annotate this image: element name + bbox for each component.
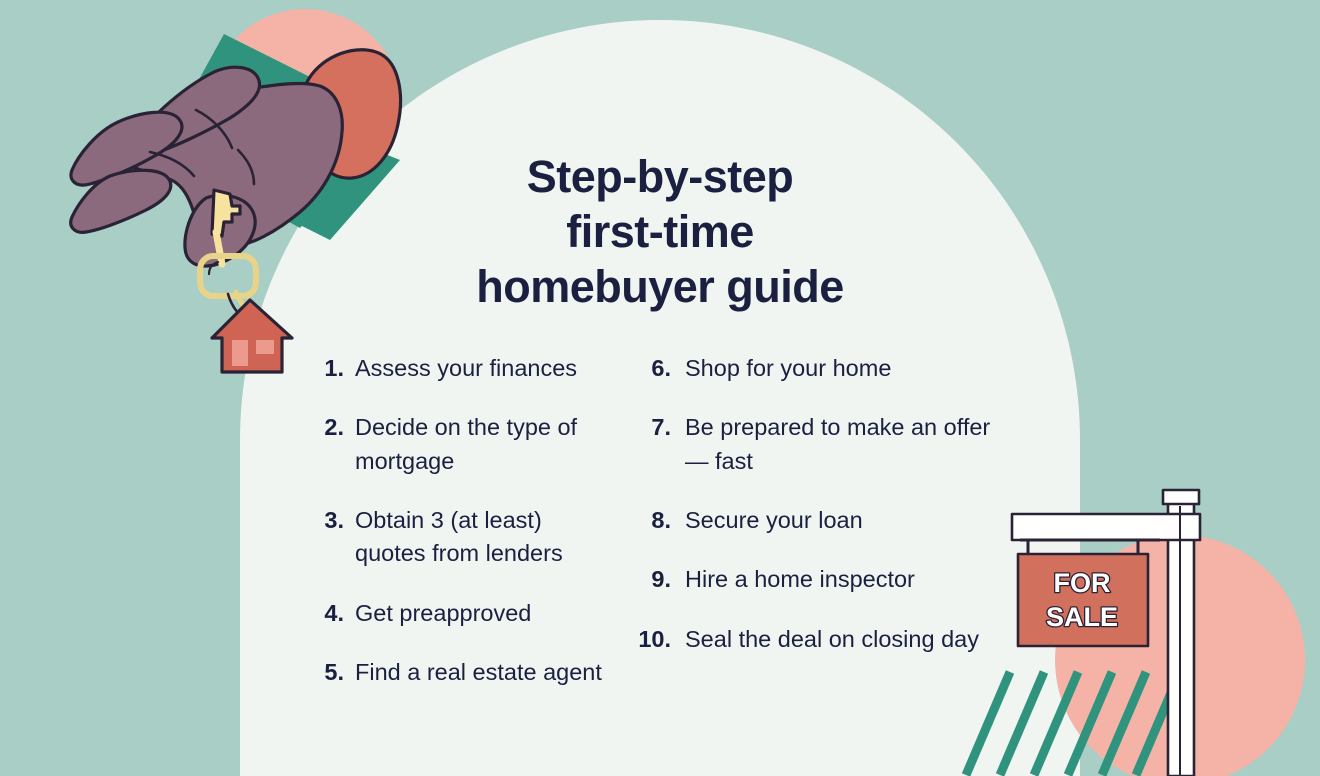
list-item: 9. Hire a home inspector — [637, 563, 1012, 596]
list-item: 8. Secure your loan — [637, 504, 1012, 537]
list-item-text: Seal the deal on closing day — [685, 623, 1012, 656]
list-item-number: 3. — [322, 504, 344, 571]
list-item-number: 1. — [322, 352, 344, 385]
list-item-text: Decide on the type of mortgage — [355, 411, 612, 478]
title-line-1: Step-by-step — [240, 150, 1080, 205]
title-line-2: first-time — [240, 205, 1080, 260]
list-item-number: 9. — [637, 563, 671, 596]
list-item: 4. Get preapproved — [322, 597, 612, 630]
page-title: Step-by-step first-time homebuyer guide — [240, 150, 1080, 315]
list-item-number: 10. — [637, 623, 671, 656]
list-item: 2. Decide on the type of mortgage — [322, 411, 612, 478]
list-item-number: 6. — [637, 352, 671, 385]
steps-list: 1. Assess your finances 2. Decide on the… — [240, 352, 1080, 690]
list-item-text: Shop for your home — [685, 352, 1012, 385]
list-item: 1. Assess your finances — [322, 352, 612, 385]
list-item-number: 8. — [637, 504, 671, 537]
infographic-poster: FOR SALE Step-by-step first-time homebuy… — [0, 0, 1320, 776]
list-item-number: 4. — [322, 597, 344, 630]
list-item: 5. Find a real estate agent — [322, 656, 612, 689]
list-item-number: 2. — [322, 411, 344, 478]
list-item-text: Assess your finances — [355, 352, 612, 385]
list-item-text: Obtain 3 (at least) quotes from lenders — [355, 504, 612, 571]
list-item-text: Be prepared to make an offer — fast — [685, 411, 1012, 478]
steps-column-right: 6. Shop for your home 7. Be prepared to … — [612, 352, 1012, 690]
steps-column-left: 1. Assess your finances 2. Decide on the… — [240, 352, 612, 690]
list-item: 7. Be prepared to make an offer — fast — [637, 411, 1012, 478]
title-line-3: homebuyer guide — [240, 260, 1080, 315]
list-item-number: 7. — [637, 411, 671, 478]
list-item-number: 5. — [322, 656, 344, 689]
list-item: 6. Shop for your home — [637, 352, 1012, 385]
list-item: 3. Obtain 3 (at least) quotes from lende… — [322, 504, 612, 571]
list-item-text: Secure your loan — [685, 504, 1012, 537]
list-item-text: Get preapproved — [355, 597, 612, 630]
list-item-text: Find a real estate agent — [355, 656, 612, 689]
list-item-text: Hire a home inspector — [685, 563, 1012, 596]
list-item: 10. Seal the deal on closing day — [637, 623, 1012, 656]
